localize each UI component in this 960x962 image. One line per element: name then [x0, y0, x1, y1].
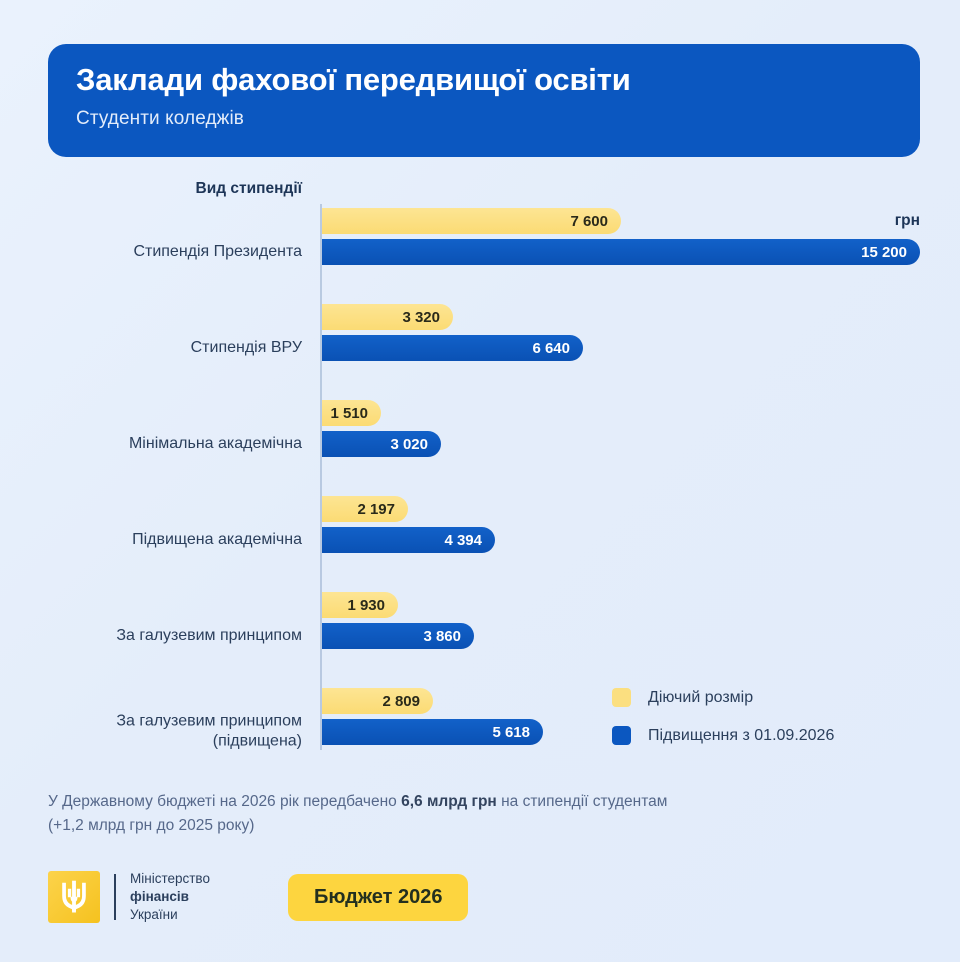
footnote-highlight: 6,6 млрд грн [401, 793, 497, 810]
row-category-label-line1: Стипендія Президента [0, 242, 302, 262]
legend-item-current: Діючий розмір [612, 688, 834, 707]
row-category-label: Підвищена академічна [0, 530, 302, 550]
bar-increased: 15 200 [322, 239, 920, 265]
row-category-label-line1: Мінімальна академічна [0, 434, 302, 454]
footer: Міністерство фінансів України Бюджет 202… [48, 870, 468, 925]
bar-value-label: 15 200 [861, 244, 920, 261]
bar-value-label: 5 618 [492, 724, 543, 741]
bar-increased: 3 020 [322, 431, 441, 457]
legend-label-current: Діючий розмір [648, 689, 753, 707]
ministry-line-1: Міністерство [130, 870, 210, 888]
bar-chart: Вид стипендії грн Стипендія Президента7 … [0, 170, 960, 770]
row-category-label: Стипендія Президента [0, 242, 302, 262]
budget-badge: Бюджет 2026 [288, 874, 469, 921]
row-category-label: За галузевим принципом [0, 626, 302, 646]
bar-value-label: 1 930 [347, 597, 398, 614]
footnote-line-2: (+1,2 млрд грн до 2025 року) [48, 814, 928, 838]
bar-value-label: 2 809 [382, 693, 433, 710]
bar-value-label: 4 394 [444, 532, 495, 549]
chart-row: Стипендія Президента7 60015 200 [0, 204, 960, 300]
row-category-label: За галузевим принципом(підвищена) [0, 712, 302, 753]
bar-increased: 4 394 [322, 527, 495, 553]
bar-value-label: 6 640 [532, 340, 583, 357]
chart-row: Мінімальна академічна1 5103 020 [0, 396, 960, 492]
bar-current: 2 809 [322, 688, 433, 714]
chart-row: Стипендія ВРУ3 3206 640 [0, 300, 960, 396]
bar-current: 1 510 [322, 400, 381, 426]
footnote-text-part2: на стипендії студентам [497, 793, 668, 810]
header-card: Заклади фахової передвищої освіти Студен… [48, 44, 920, 157]
ukraine-trident-emblem-icon [48, 871, 100, 923]
footnote-line-1: У Державному бюджеті на 2026 рік передба… [48, 790, 928, 814]
logo-divider [114, 874, 116, 920]
row-category-label-line1: Стипендія ВРУ [0, 338, 302, 358]
ministry-name: Міністерство фінансів України [130, 870, 210, 925]
legend-swatch-icon-current [612, 688, 631, 707]
ministry-line-3: України [130, 906, 210, 924]
legend-swatch-icon-increased [612, 726, 631, 745]
footnote: У Державному бюджеті на 2026 рік передба… [48, 790, 928, 838]
bar-increased: 5 618 [322, 719, 543, 745]
bar-current: 3 320 [322, 304, 453, 330]
chart-legend: Діючий розмір Підвищення з 01.09.2026 [612, 688, 834, 764]
page-title: Заклади фахової передвищої освіти [76, 62, 892, 98]
row-category-label-line1: За галузевим принципом [0, 712, 302, 732]
bar-value-label: 2 197 [357, 501, 408, 518]
chart-row: Підвищена академічна2 1974 394 [0, 492, 960, 588]
chart-row: За галузевим принципом1 9303 860 [0, 588, 960, 684]
bar-value-label: 3 020 [390, 436, 441, 453]
bar-value-label: 1 510 [330, 405, 381, 422]
bar-increased: 6 640 [322, 335, 583, 361]
ministry-logo: Міністерство фінансів України [48, 870, 210, 925]
infographic-page: Заклади фахової передвищої освіти Студен… [0, 0, 960, 962]
bar-value-label: 3 320 [402, 309, 453, 326]
axis-header-label: Вид стипендії [0, 180, 302, 198]
legend-label-increased: Підвищення з 01.09.2026 [648, 727, 834, 745]
legend-item-increased: Підвищення з 01.09.2026 [612, 726, 834, 745]
page-subtitle: Студенти коледжів [76, 108, 892, 130]
bar-increased: 3 860 [322, 623, 474, 649]
bar-current: 1 930 [322, 592, 398, 618]
row-category-label-line2: (підвищена) [0, 732, 302, 752]
row-category-label-line1: Підвищена академічна [0, 530, 302, 550]
footnote-text-part1: У Державному бюджеті на 2026 рік передба… [48, 793, 401, 810]
bar-value-label: 7 600 [570, 213, 621, 230]
row-category-label-line1: За галузевим принципом [0, 626, 302, 646]
bar-current: 7 600 [322, 208, 621, 234]
row-category-label: Мінімальна академічна [0, 434, 302, 454]
ministry-line-2: фінансів [130, 888, 210, 906]
row-category-label: Стипендія ВРУ [0, 338, 302, 358]
bar-current: 2 197 [322, 496, 408, 522]
bar-value-label: 3 860 [423, 628, 474, 645]
